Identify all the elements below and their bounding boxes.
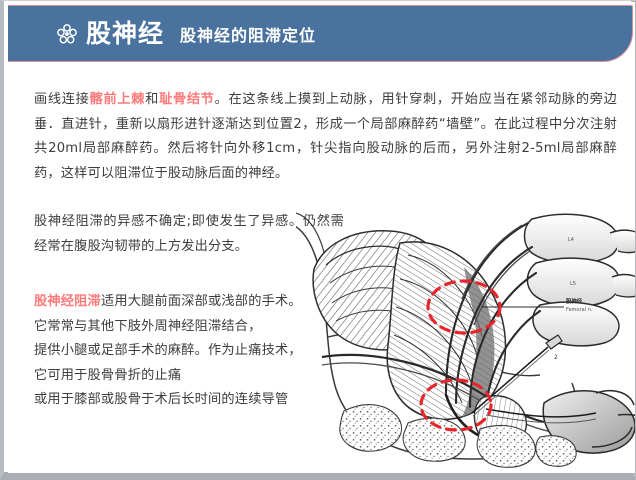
slide-title: 股神经	[86, 21, 164, 46]
femoral-nerve-anatomy-illustration: L4 L5	[296, 207, 635, 473]
flower-icon	[56, 23, 78, 45]
text-run: 它可用于股骨骨折的止痛	[34, 368, 181, 383]
text-run: 画线连接	[34, 92, 90, 107]
svg-text:L4: L4	[568, 237, 574, 243]
text-run: 提供小腿或足部手术的麻醉。作为止痛技术，	[34, 343, 302, 358]
svg-text:L5: L5	[570, 281, 576, 287]
annotation-label-primary: 股神经	[566, 297, 583, 305]
text-run: 适用大腿前面深部或浅部的手术。	[101, 294, 302, 309]
needle-position-label: 2	[554, 354, 558, 361]
slide-frame: 股神经 股神经的阻滞定位 画线连接髂前上棘和耻骨结节。在这条线上摸到上动脉，用针…	[0, 0, 636, 480]
paragraph-procedure: 画线连接髂前上棘和耻骨结节。在这条线上摸到上动脉，用针穿刺，开始应当在紧邻动脉的…	[34, 88, 617, 186]
slide-header-bar: 股神经 股神经的阻滞定位	[8, 5, 633, 62]
slide-canvas: 股神经 股神经的阻滞定位 画线连接髂前上棘和耻骨结节。在这条线上摸到上动脉，用针…	[8, 2, 635, 473]
highlighted-term: 髂前上棘	[90, 92, 146, 107]
highlighted-term: 耻骨结节	[159, 92, 215, 107]
annotation-label-secondary: Femoral n.	[566, 307, 593, 313]
text-run: 或用于膝部或股骨于术后长时间的连续导管	[34, 392, 288, 407]
anatomy-drawing: L4 L5	[296, 207, 635, 473]
text-run: 它常常与其他下肢外周神经阻滞结合，	[34, 319, 262, 334]
text-run: 和	[145, 92, 159, 107]
highlighted-term: 股神经阻滞	[34, 294, 101, 309]
slide-subtitle: 股神经的阻滞定位	[180, 24, 316, 44]
